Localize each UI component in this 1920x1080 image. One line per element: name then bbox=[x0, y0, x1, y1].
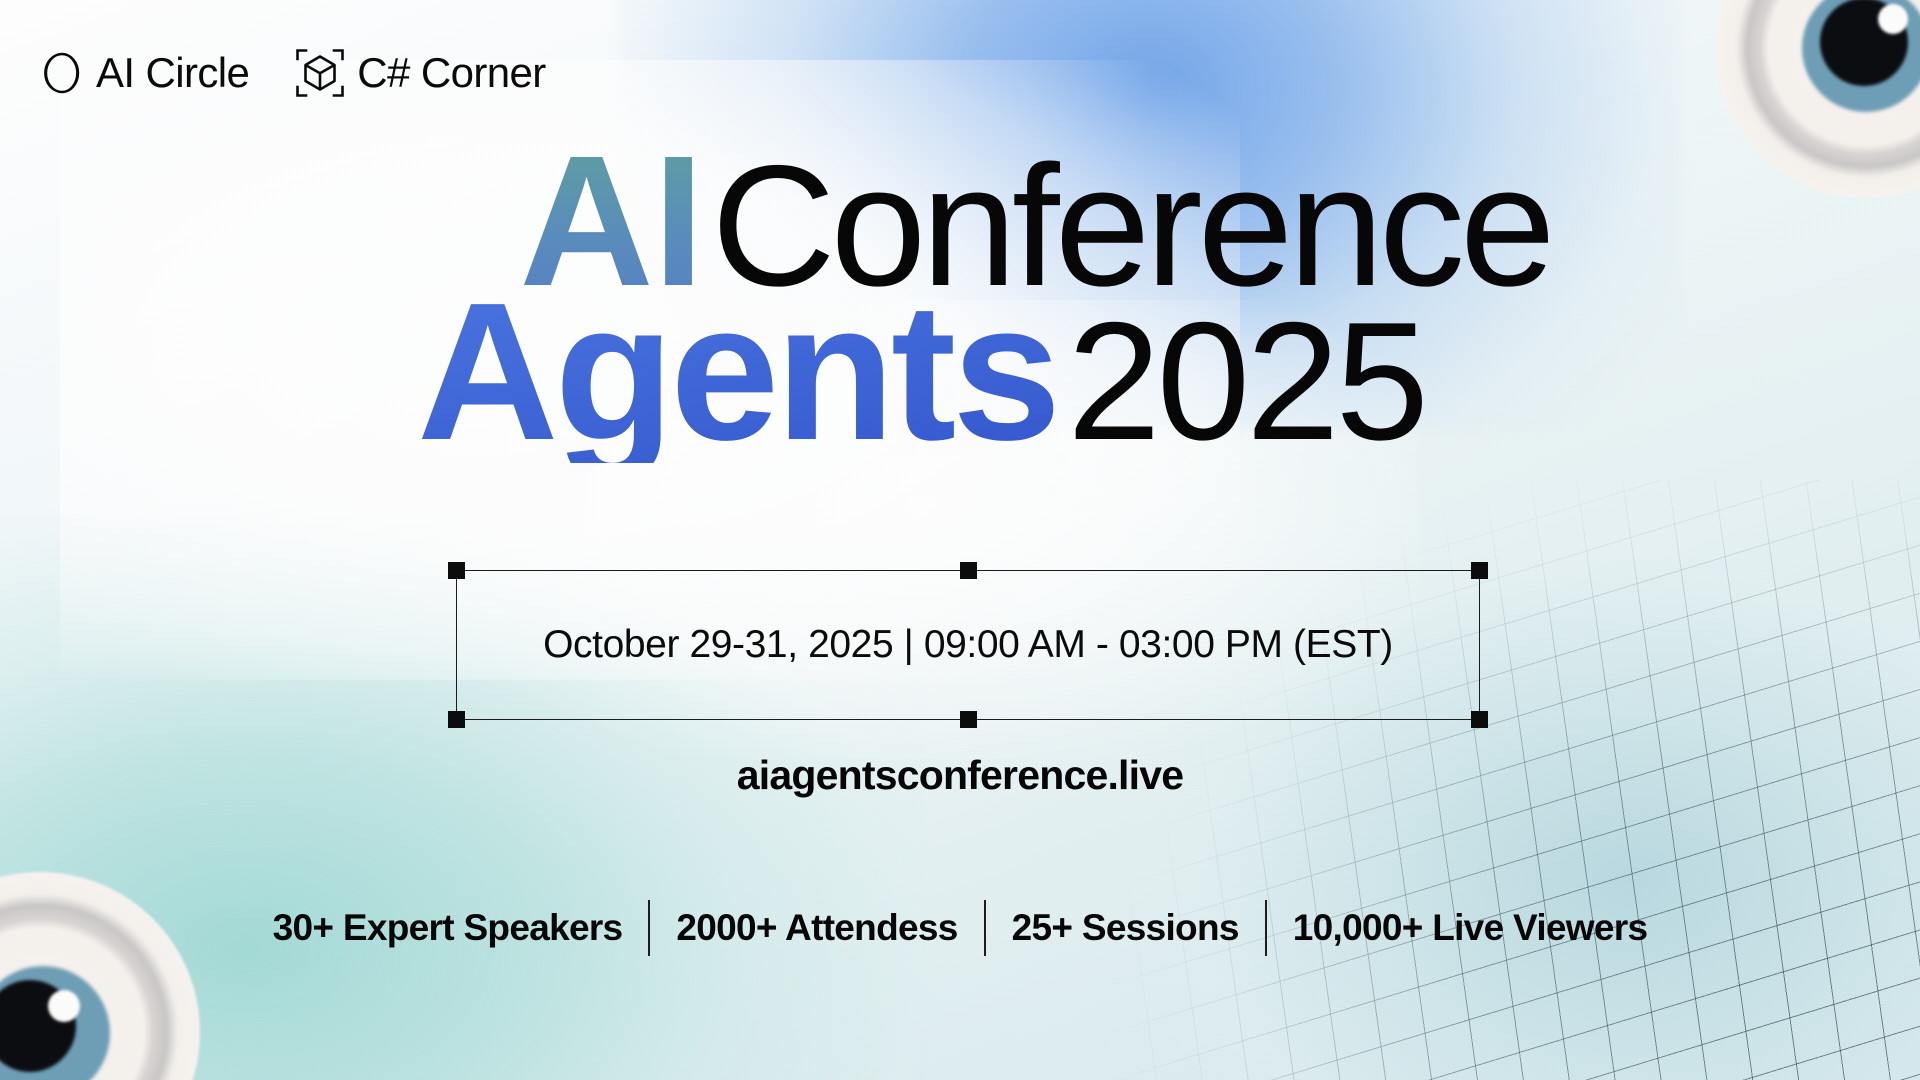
brand-ai-circle-label: AI Circle bbox=[96, 52, 249, 94]
stat-sessions: 25+ Sessions bbox=[986, 905, 1265, 951]
circle-outline-icon bbox=[40, 51, 84, 95]
eye-pupil bbox=[1820, 0, 1908, 86]
title-word-year: 2025 bbox=[1067, 302, 1425, 462]
website-url[interactable]: aiagentsconference.live bbox=[0, 752, 1920, 799]
eye-pupil bbox=[0, 980, 76, 1072]
stat-expert-speakers: 30+ Expert Speakers bbox=[247, 905, 649, 951]
brand-csharp-corner[interactable]: C# Corner bbox=[295, 48, 545, 98]
selection-handle-top-middle[interactable] bbox=[960, 562, 977, 579]
selection-handle-top-right[interactable] bbox=[1471, 562, 1488, 579]
stat-attendees: 2000+ Attendess bbox=[650, 905, 983, 951]
brand-bar: AI Circle C# Corner bbox=[40, 48, 546, 98]
selection-handle-bottom-left[interactable] bbox=[448, 711, 465, 728]
title-word-agents: Agents bbox=[417, 282, 1067, 462]
brand-ai-circle[interactable]: AI Circle bbox=[40, 51, 249, 95]
selection-handle-bottom-middle[interactable] bbox=[960, 711, 977, 728]
brand-csharp-corner-label: C# Corner bbox=[357, 52, 545, 94]
selection-handle-bottom-right[interactable] bbox=[1471, 711, 1488, 728]
stats-row: 30+ Expert Speakers 2000+ Attendess 25+ … bbox=[0, 900, 1920, 956]
eye-iris bbox=[0, 966, 110, 1080]
selection-handle-top-left[interactable] bbox=[448, 562, 465, 579]
eye-iris bbox=[1802, 0, 1920, 112]
page-title: AI Conference Agents 2025 bbox=[0, 136, 1920, 463]
stat-live-viewers: 10,000+ Live Viewers bbox=[1267, 905, 1674, 951]
date-selection-box[interactable]: October 29-31, 2025 | 09:00 AM - 03:00 P… bbox=[456, 570, 1480, 720]
date-time-text: October 29-31, 2025 | 09:00 AM - 03:00 P… bbox=[456, 570, 1480, 720]
poster-canvas: AI Circle C# Corner AI bbox=[0, 0, 1920, 1080]
eye-glint bbox=[48, 990, 80, 1022]
cube-scan-icon bbox=[295, 48, 345, 98]
eye-glint bbox=[1878, 4, 1908, 34]
title-line-2: Agents 2025 bbox=[0, 282, 1920, 462]
